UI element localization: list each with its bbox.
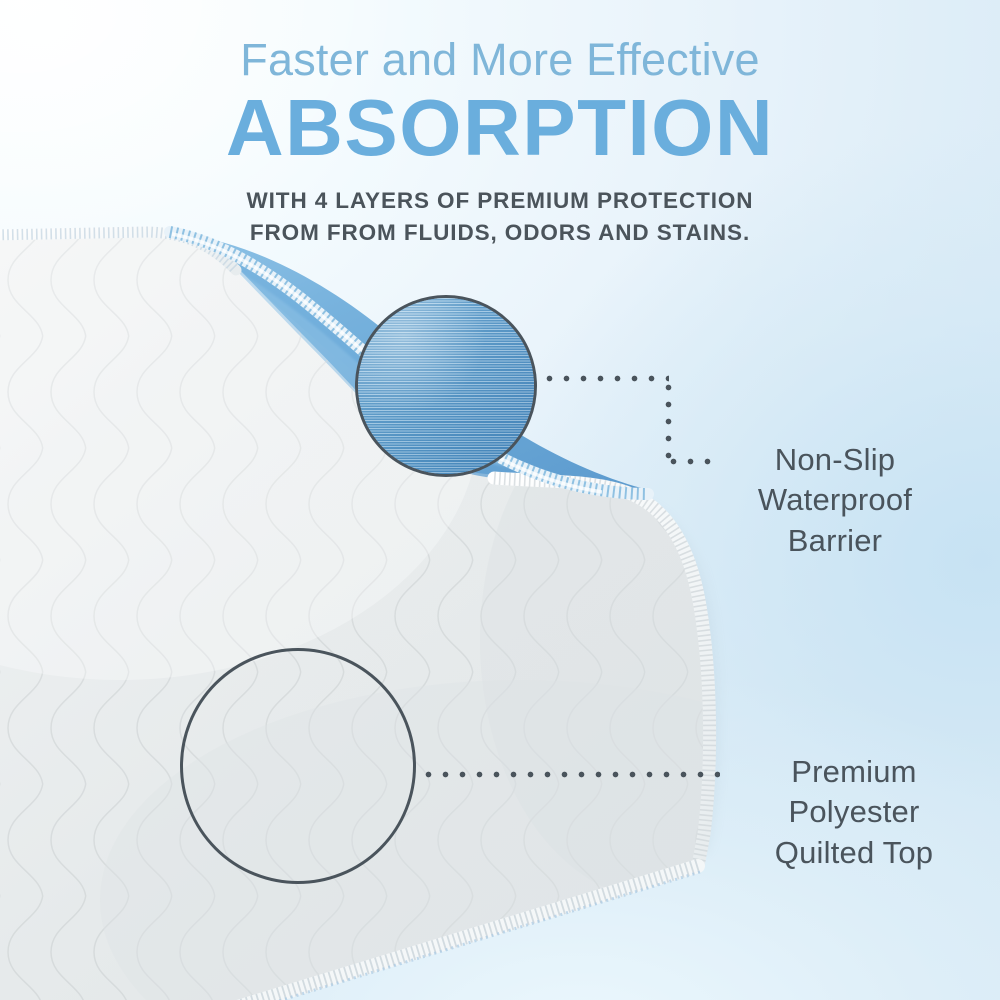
- ribbed-fabric-shading: [358, 298, 534, 474]
- headline-description-line-2: FROM FROM FLUIDS, ODORS AND STAINS.: [0, 217, 1000, 249]
- pad-top-shading: [0, 160, 1000, 1000]
- callout-barrier-line-3: Barrier: [690, 521, 980, 561]
- headline-description-line-1: WITH 4 LAYERS OF PREMIUM PROTECTION: [0, 185, 1000, 217]
- headline-block: Faster and More Effective ABSORPTION WIT…: [0, 36, 1000, 249]
- callout-barrier-line-2: Waterproof: [690, 480, 980, 520]
- callout-quilt-line-2: Polyester: [720, 792, 988, 832]
- magnifier-circle-waterproof-barrier: [355, 295, 537, 477]
- connector-barrier-vertical: [665, 379, 672, 461]
- infographic-canvas: Faster and More Effective ABSORPTION WIT…: [0, 0, 1000, 1000]
- headline-description: WITH 4 LAYERS OF PREMIUM PROTECTION FROM…: [0, 185, 1000, 249]
- page-title: ABSORPTION: [0, 87, 1000, 169]
- callout-label-quilted-top: Premium Polyester Quilted Top: [720, 752, 988, 873]
- connector-barrier-horizontal-top: [541, 375, 669, 382]
- callout-quilt-line-1: Premium: [720, 752, 988, 792]
- callout-barrier-line-1: Non-Slip: [690, 440, 980, 480]
- callout-label-waterproof-barrier: Non-Slip Waterproof Barrier: [690, 440, 980, 561]
- magnifier-circle-quilted-top: [180, 648, 416, 884]
- callout-quilt-line-3: Quilted Top: [720, 833, 988, 873]
- headline-eyebrow: Faster and More Effective: [0, 36, 1000, 83]
- pad-white-top: [0, 160, 1000, 1000]
- connector-quilt-horizontal: [420, 771, 720, 778]
